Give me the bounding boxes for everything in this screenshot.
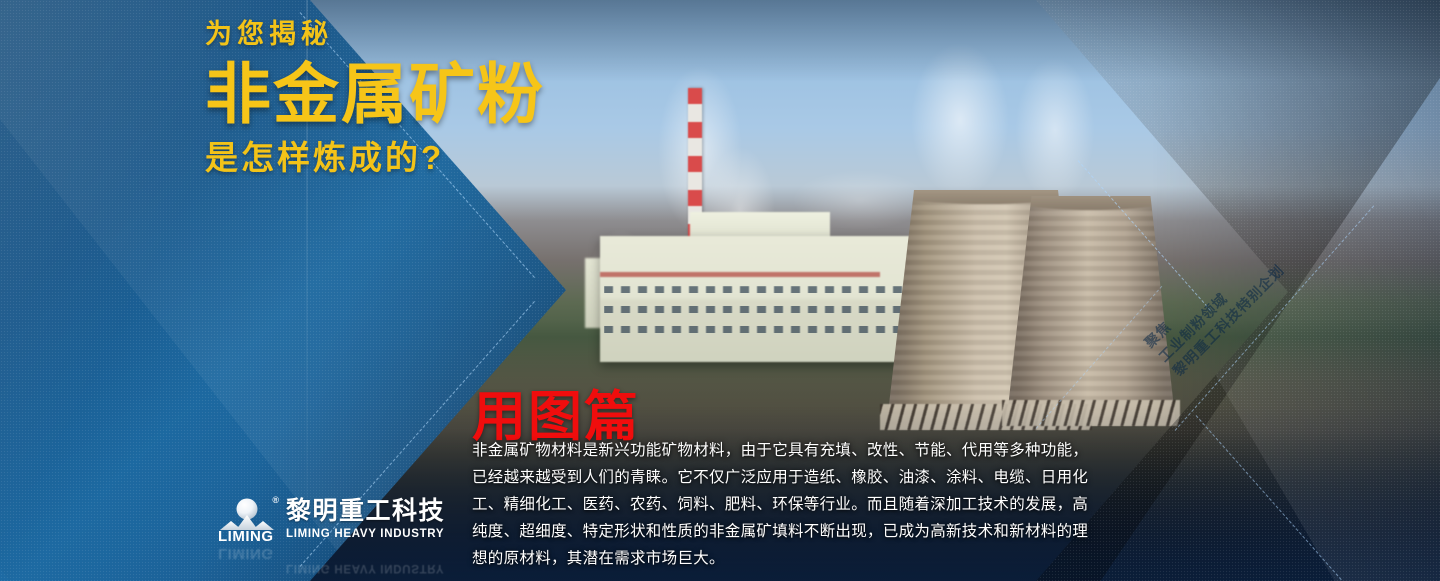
body-paragraph: 非金属矿物材料是新兴功能矿物材料，由于它具有充填、改性、节能、代用等多种功能，已… [472, 437, 1102, 572]
registered-mark-icon: ® [272, 495, 279, 505]
logo-name-en: LIMING HEAVY INDUSTRY [286, 529, 445, 541]
logo-wordmark-latin: LIMING [218, 528, 274, 545]
logo-text-block: 黎明重工科技 LIMING HEAVY INDUSTRY [286, 499, 445, 541]
headline-block: 为您揭秘 非金属矿粉 是怎样炼成的? [205, 20, 545, 177]
liming-triangle-mark-icon: ® LIMING [218, 496, 276, 544]
liming-logo[interactable]: ® LIMING 黎明重工科技 LIMING HEAVY INDUSTRY [218, 496, 445, 544]
headline-eyebrow: 为您揭秘 [205, 20, 545, 50]
promo-banner: 聚焦 工业制粉领域 黎明重工科技特别企划 为您揭秘 非金属矿粉 是怎样炼成的? … [0, 0, 1440, 581]
logo-name-cn: 黎明重工科技 [286, 499, 445, 524]
headline-sub: 是怎样炼成的? [205, 138, 545, 178]
headline-main: 非金属矿粉 [205, 58, 545, 132]
